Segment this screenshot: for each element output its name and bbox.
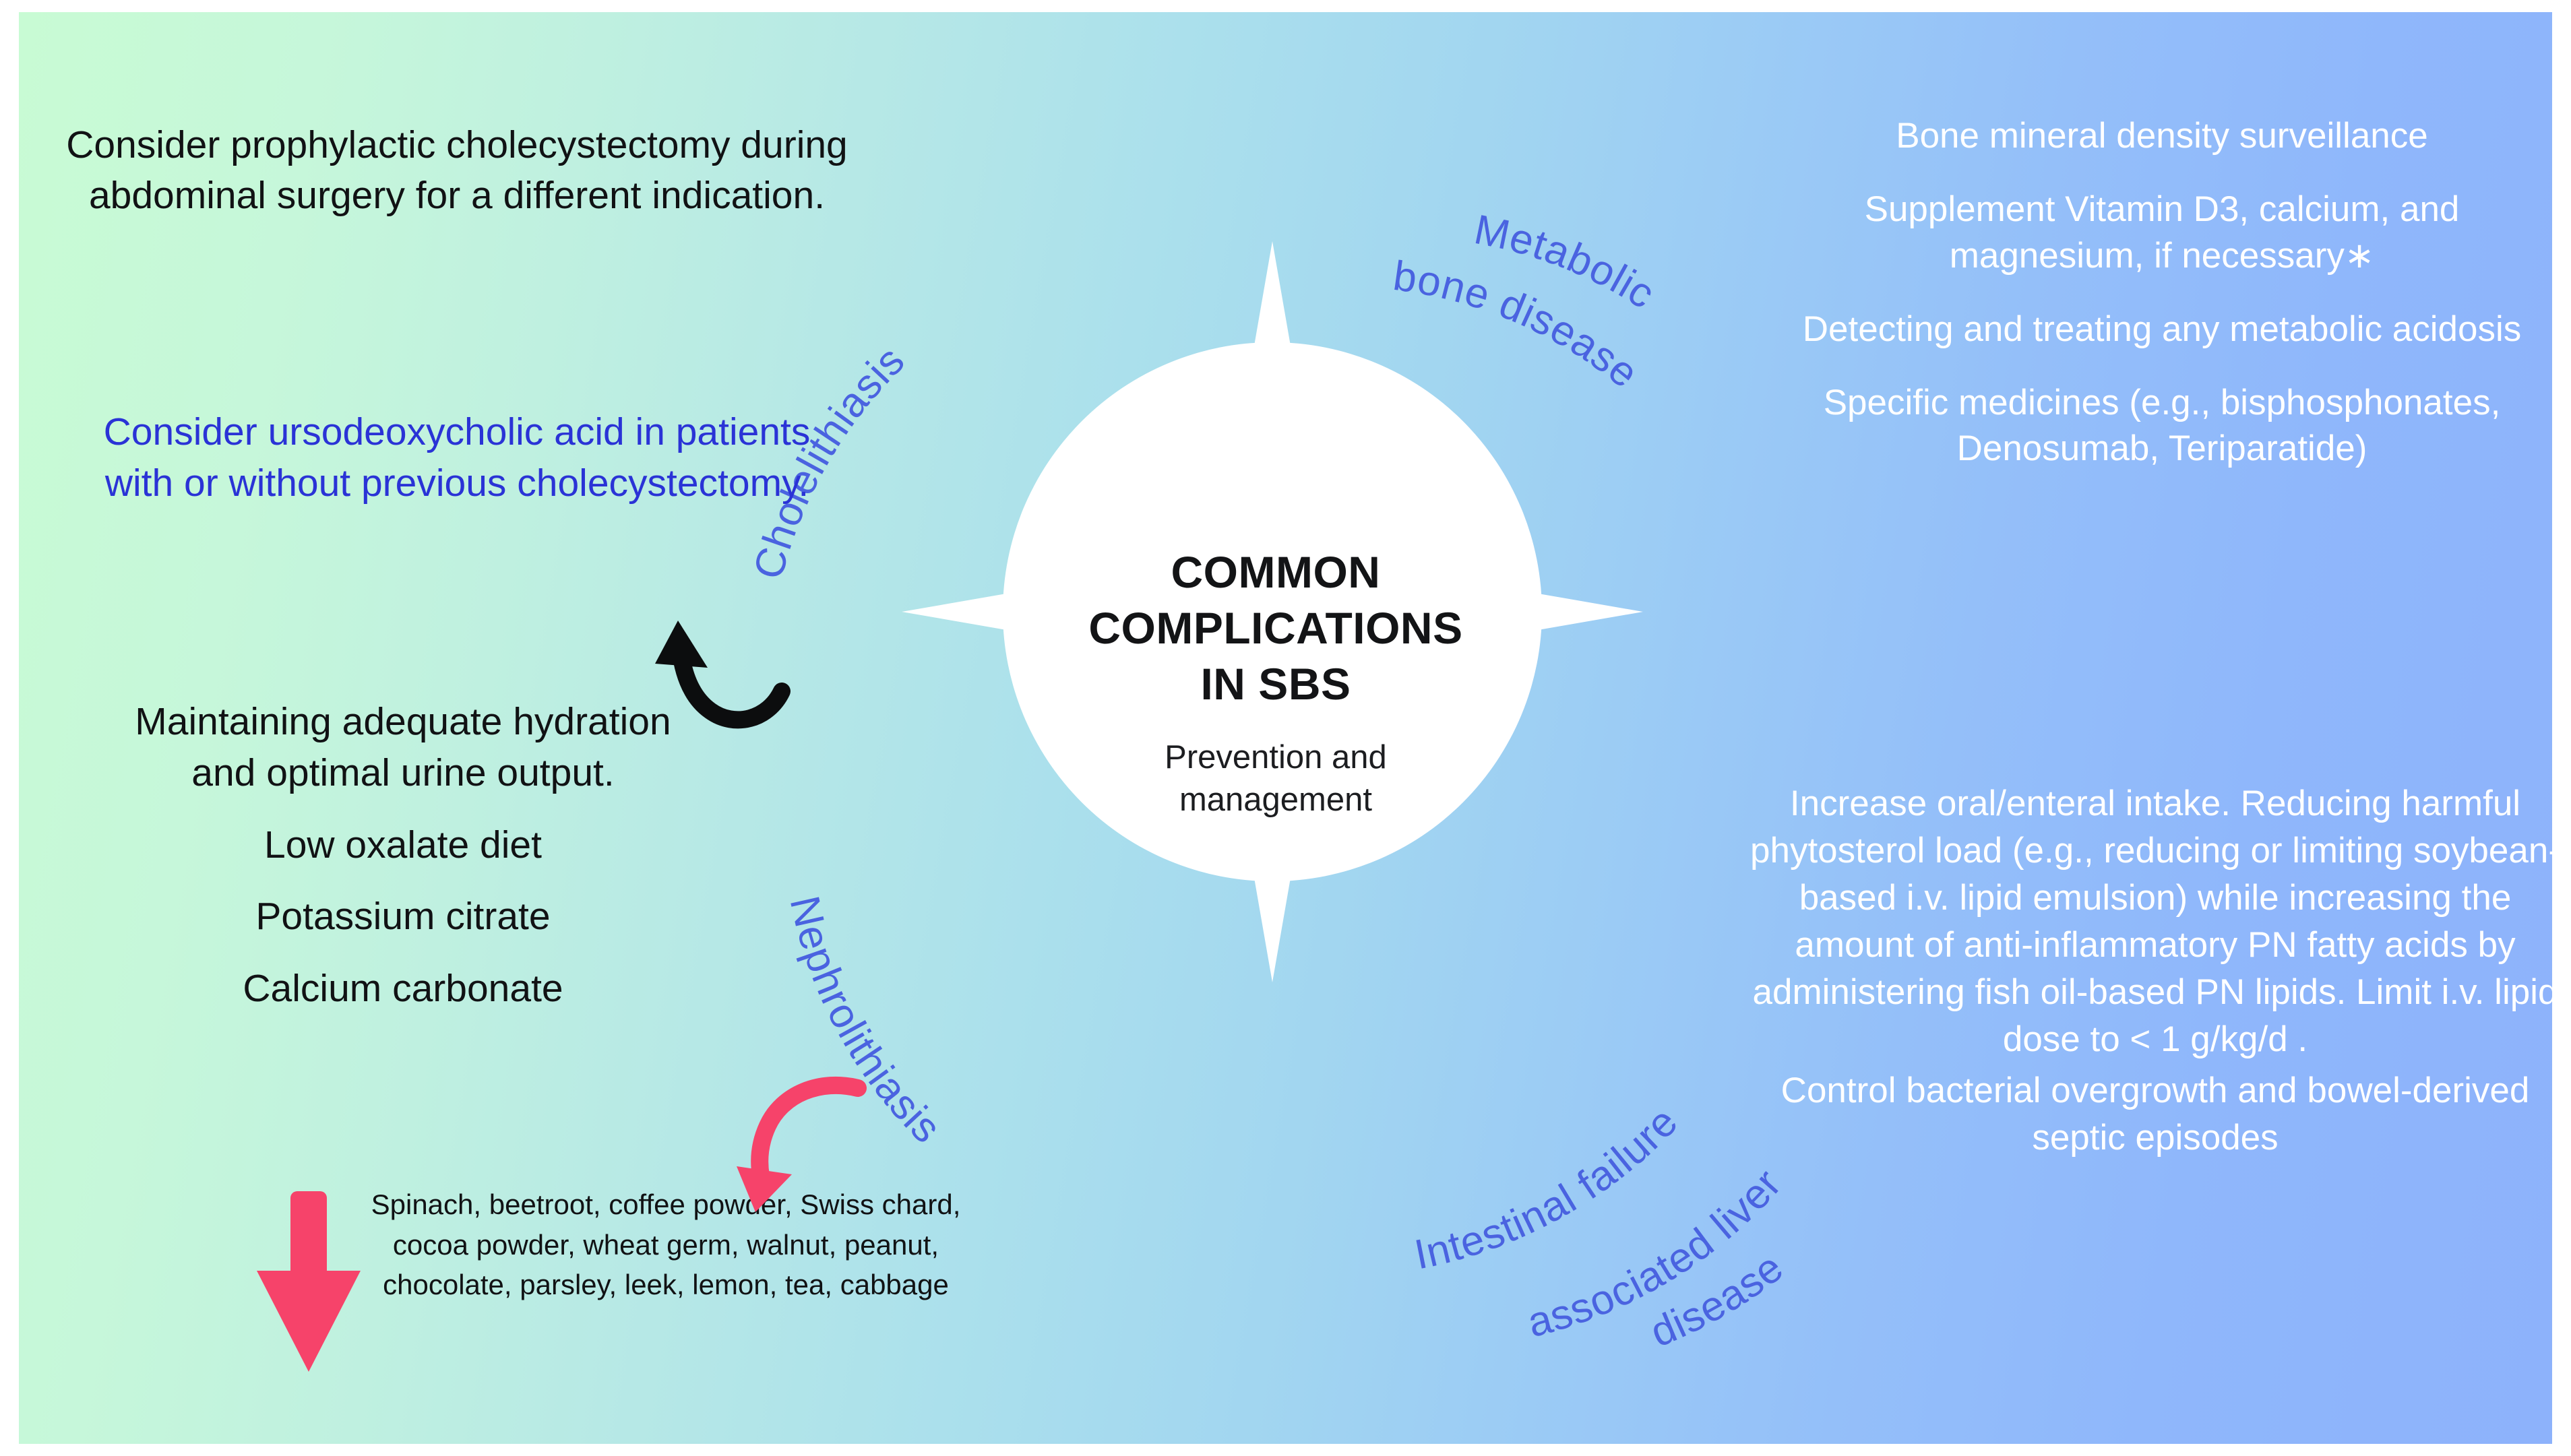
center-text-block: COMMON COMPLICATIONS IN SBS Prevention a… [1070,544,1481,821]
infographic-root: COMMON COMPLICATIONS IN SBS Prevention a… [0,0,2571,1456]
cholelithiasis-black-text: Consider prophylactic cholecystectomy du… [66,120,848,221]
spacer [106,943,700,963]
page-subtitle: Prevention and management [1070,736,1481,821]
spacer [106,799,700,819]
black-curved-arrow-icon [625,581,841,770]
mbd-item-2: Supplement Vitamin D3, calcium, and magn… [1764,187,2552,280]
ifald-line-1: Intestinal failure [1411,1098,1687,1278]
ifald-line-1-path: Intestinal failure [1411,1098,1687,1278]
ifald-item-2: Control bacterial overgrowth and bowel-d… [1741,1067,2552,1162]
subtitle-line-2: management [1070,779,1481,821]
nephrolithiasis-item-1: Maintaining adequate hydration and optim… [106,696,700,799]
red-down-arrow-icon [251,1184,366,1380]
metabolic-bone-disease-text-block: Bone mineral density surveillance Supple… [1764,113,2552,472]
ifald-line-3-path: disease [1644,1244,1792,1356]
subtitle-line-1: Prevention and [1070,736,1481,779]
nephrolithiasis-text-block: Maintaining adequate hydration and optim… [106,696,700,1014]
ifald-item-1: Increase oral/enteral intake. Reducing h… [1741,780,2552,1063]
gradient-canvas: COMMON COMPLICATIONS IN SBS Prevention a… [19,12,2552,1444]
ifald-line-3: disease [1644,1244,1792,1356]
nephrolithiasis-item-2: Low oxalate diet [106,819,700,871]
pink-curved-arrow-icon [730,1046,939,1228]
mbd-item-3: Detecting and treating any metabolic aci… [1764,307,2552,353]
ifald-text-block: Increase oral/enteral intake. Reducing h… [1741,780,2552,1162]
nephrolithiasis-item-3: Potassium citrate [106,891,700,942]
spacer [106,871,700,891]
page-title: COMMON COMPLICATIONS IN SBS [1070,544,1481,712]
title-line-1: COMMON [1070,544,1481,600]
title-line-2: COMPLICATIONS [1070,600,1481,656]
ifald-line-2: associated liver [1523,1160,1791,1346]
nephrolithiasis-item-4: Calcium carbonate [106,963,700,1014]
mbd-item-4: Specific medicines (e.g., bisphosphonate… [1764,380,2552,473]
ifald-line-2-path: associated liver [1523,1160,1791,1346]
title-line-3: IN SBS [1070,656,1481,712]
cholelithiasis-blue-text: Consider ursodeoxycholic acid in patient… [66,406,848,509]
mbd-item-1: Bone mineral density surveillance [1764,113,2552,160]
